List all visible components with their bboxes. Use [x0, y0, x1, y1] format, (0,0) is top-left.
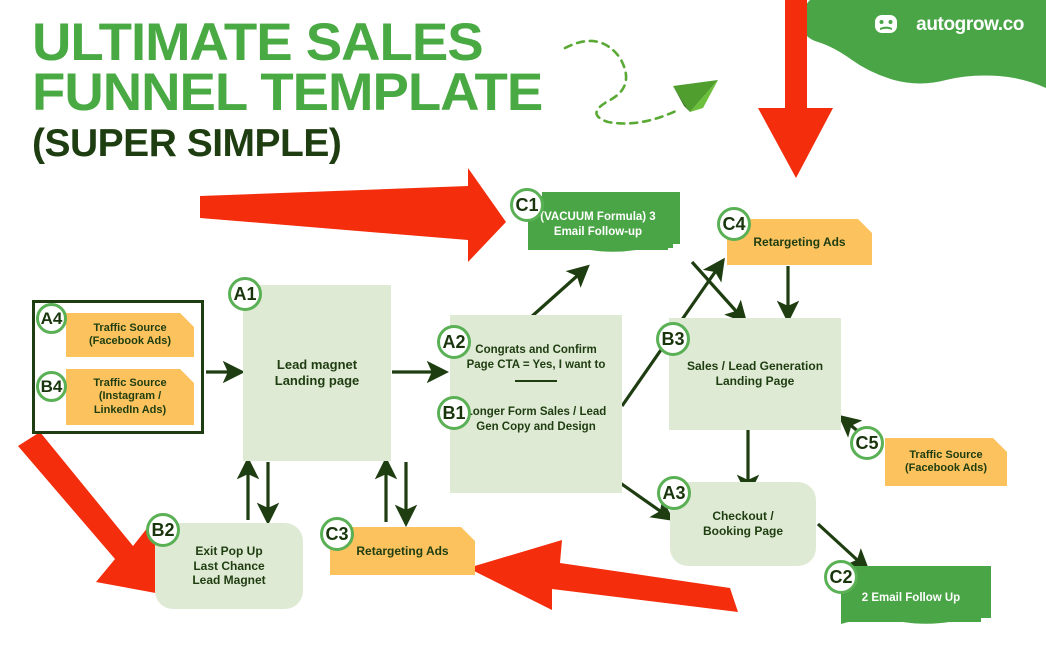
badge-c4-text: C4 [722, 214, 745, 235]
node-c5-label: Traffic Source (Facebook Ads) [905, 449, 987, 476]
node-c2[interactable]: 2 Email Follow Up [841, 566, 993, 628]
badge-b3-text: B3 [661, 329, 684, 350]
node-c4-label: Retargeting Ads [753, 235, 845, 250]
badge-c1[interactable]: C1 [510, 188, 544, 222]
node-a4-label: Traffic Source (Facebook Ads) [89, 322, 171, 349]
node-b4[interactable]: Traffic Source (Instagram / LinkedIn Ads… [66, 369, 194, 425]
node-a4[interactable]: Traffic Source (Facebook Ads) [66, 313, 194, 357]
badge-a2-text: A2 [442, 332, 465, 353]
node-a2-b1-container[interactable]: Congrats and Confirm Page CTA = Yes, I w… [450, 315, 622, 493]
node-b4-label: Traffic Source (Instagram / LinkedIn Ads… [93, 377, 166, 417]
badge-c1-text: C1 [515, 195, 538, 216]
badge-c3-text: C3 [325, 524, 348, 545]
node-a1[interactable]: Lead magnet Landing page [243, 285, 391, 461]
node-a3-label: Checkout / Booking Page [703, 509, 783, 538]
badge-b1[interactable]: B1 [437, 396, 471, 430]
node-c2-label: 2 Email Follow Up [862, 591, 960, 606]
infographic-canvas: autogrow.co ULTIMATE SALES FUNNEL TEMPLA… [0, 0, 1046, 661]
node-a1-label: Lead magnet Landing page [275, 357, 360, 389]
node-c1[interactable]: (VACUUM Formula) 3 Email Follow-up [528, 192, 680, 254]
node-b1-label: Longer Form Sales / Lead Gen Copy and De… [466, 406, 607, 433]
badge-c2[interactable]: C2 [824, 560, 858, 594]
node-c3-label: Retargeting Ads [356, 544, 448, 559]
badge-a4[interactable]: A4 [36, 303, 67, 334]
badge-b3[interactable]: B3 [656, 322, 690, 356]
badge-b2-text: B2 [151, 520, 174, 541]
badge-a4-text: A4 [41, 309, 63, 329]
connector-a2-to-c1 [530, 268, 586, 318]
node-b1-label-wrap: Longer Form Sales / Lead Gen Copy and De… [450, 389, 622, 435]
node-b3-label: Sales / Lead Generation Landing Page [687, 359, 823, 388]
node-b2-label: Exit Pop Up Last Chance Lead Magnet [192, 544, 265, 588]
node-c5[interactable]: Traffic Source (Facebook Ads) [885, 438, 1007, 486]
badge-c2-text: C2 [829, 567, 852, 588]
badge-c4[interactable]: C4 [717, 207, 751, 241]
connector-c1-to-b3 [692, 262, 744, 320]
badge-b4[interactable]: B4 [36, 371, 67, 402]
badge-a1-text: A1 [233, 284, 256, 305]
badge-a1[interactable]: A1 [228, 277, 262, 311]
node-b3[interactable]: Sales / Lead Generation Landing Page [669, 318, 841, 430]
node-a2-label: Congrats and Confirm Page CTA = Yes, I w… [467, 344, 606, 371]
badge-b2[interactable]: B2 [146, 513, 180, 547]
node-a3[interactable]: Checkout / Booking Page [670, 482, 816, 566]
badge-b1-text: B1 [442, 403, 465, 424]
badge-c5[interactable]: C5 [850, 426, 884, 460]
badge-b4-text: B4 [41, 377, 63, 397]
node-c1-label: (VACUUM Formula) 3 Email Follow-up [528, 210, 668, 239]
badge-a2[interactable]: A2 [437, 325, 471, 359]
node-a2-label-wrap: Congrats and Confirm Page CTA = Yes, I w… [450, 315, 622, 373]
badge-c5-text: C5 [855, 433, 878, 454]
a2-b1-divider [515, 380, 557, 382]
badge-c3[interactable]: C3 [320, 517, 354, 551]
badge-a3[interactable]: A3 [657, 476, 691, 510]
badge-a3-text: A3 [662, 483, 685, 504]
